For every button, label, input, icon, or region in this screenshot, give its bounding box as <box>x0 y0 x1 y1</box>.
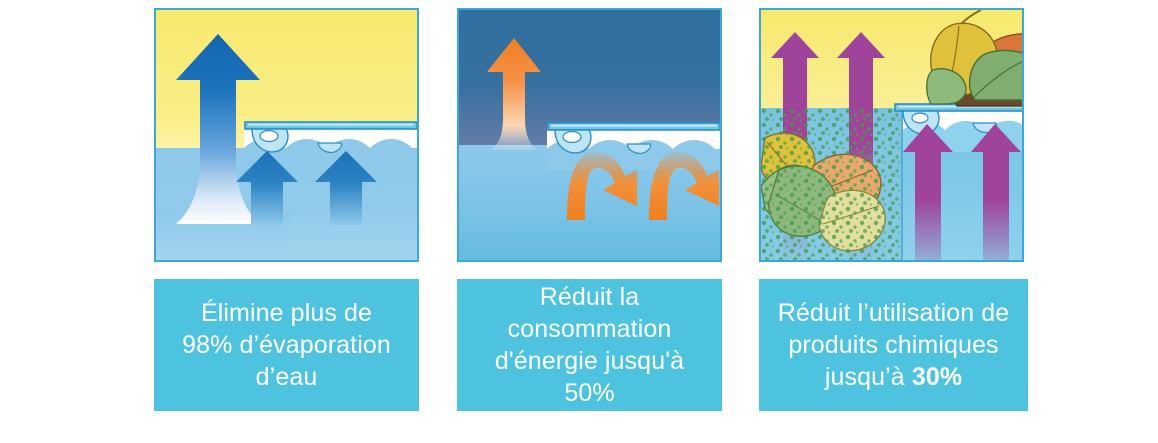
caption-line: produits chimiques <box>778 329 1010 361</box>
caption-chemicals: Réduit l’utilisation de produits chimiqu… <box>759 279 1028 411</box>
caption-line-stat: jusqu’à 30% <box>778 361 1010 393</box>
purple-arrow-clean-2 <box>971 124 1021 260</box>
caption-energy: Réduit la consommation d'énergie jusqu'à… <box>457 279 722 411</box>
panel-energy-frame <box>457 8 722 262</box>
panel-evaporation-art <box>156 10 417 260</box>
panel-energy-art <box>459 10 720 260</box>
caption-line-prefix: jusqu’à <box>825 363 912 391</box>
heat-loss-arrow <box>487 38 541 150</box>
caption-evaporation: Élimine plus de 98% d’évaporation d’eau <box>154 279 419 411</box>
floating-leaf-pile <box>927 10 1024 106</box>
caption-stat: 30% <box>912 363 962 391</box>
panel-chemicals <box>759 8 1024 262</box>
caption-line: Élimine plus de <box>182 297 391 329</box>
panel-evaporation <box>154 8 419 262</box>
caption-line: d'énergie jusqu'à 50% <box>467 345 712 409</box>
caption-line: Réduit l’utilisation de <box>778 297 1010 329</box>
panel-energy <box>457 8 722 262</box>
caption-line: Réduit la <box>467 281 712 313</box>
benefits-infographic: Élimine plus de 98% d’évaporation d’eau … <box>0 0 1158 443</box>
purple-arrow-clean-1 <box>903 124 953 260</box>
panel-chemicals-frame <box>759 8 1024 262</box>
panel-evaporation-frame <box>154 8 419 262</box>
caption-line: d’eau <box>182 361 391 393</box>
caption-line: consommation <box>467 313 712 345</box>
panel-chemicals-art <box>761 10 1024 260</box>
caption-line: 98% d’évaporation <box>182 329 391 361</box>
submerged-leaves <box>761 108 902 260</box>
